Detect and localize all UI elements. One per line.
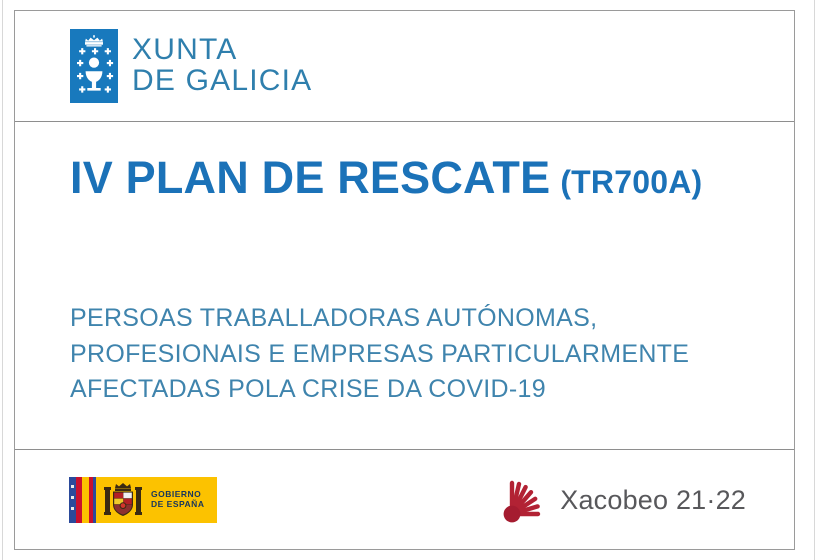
- scallop-shell-icon: [500, 476, 548, 524]
- flag-dots-decoration: [71, 485, 75, 515]
- title-band: IV PLAN DE RESCATE(TR700A): [15, 121, 794, 241]
- page-title-code: (TR700A): [560, 164, 702, 200]
- page-title: IV PLAN DE RESCATE(TR700A): [70, 155, 794, 200]
- galicia-chalice-crown-emblem-icon: [70, 29, 118, 103]
- xunta-de-galicia-logo: XUNTA DE GALICIA: [70, 29, 312, 103]
- subtitle-band: PERSOAS TRABALLADORAS AUTÓNOMAS, PROFESI…: [15, 301, 794, 408]
- xunta-wordmark-line1: XUNTA: [132, 35, 312, 66]
- spain-flag-stripe-icon: [69, 477, 96, 523]
- poster-frame: XUNTA DE GALICIA IV PLAN DE RESCATE(TR70…: [14, 10, 795, 550]
- header-band: XUNTA DE GALICIA: [15, 11, 794, 121]
- spain-coat-of-arms-icon: [102, 480, 144, 520]
- subtitle-line-2: PROFESIONAIS E EMPRESAS PARTICULARMENTE: [70, 337, 794, 373]
- subtitle-line-1: PERSOAS TRABALLADORAS AUTÓNOMAS,: [70, 301, 794, 337]
- page-edge-rule-left: [2, 0, 3, 560]
- page-edge-rule-right: [814, 0, 815, 560]
- xacobeo-wordmark: Xacobeo 21·22: [560, 485, 746, 516]
- xunta-wordmark: XUNTA DE GALICIA: [132, 35, 312, 96]
- gobierno-wordmark-line1: GOBIERNO: [151, 489, 204, 499]
- footer-band: GOBIERNO DE ESPAÑA: [15, 450, 794, 550]
- gobierno-wordmark-line2: DE ESPAÑA: [151, 499, 204, 509]
- xacobeo-logo: Xacobeo 21·22: [500, 476, 746, 524]
- subtitle-line-3: AFECTADAS POLA CRISE DA COVID-19: [70, 372, 794, 408]
- xunta-wordmark-line2: DE GALICIA: [132, 66, 312, 97]
- poster-page: XUNTA DE GALICIA IV PLAN DE RESCATE(TR70…: [0, 0, 820, 560]
- gobierno-de-espana-logo: GOBIERNO DE ESPAÑA: [69, 477, 217, 523]
- page-title-main: IV PLAN DE RESCATE: [70, 152, 550, 203]
- gobierno-wordmark: GOBIERNO DE ESPAÑA: [151, 489, 204, 509]
